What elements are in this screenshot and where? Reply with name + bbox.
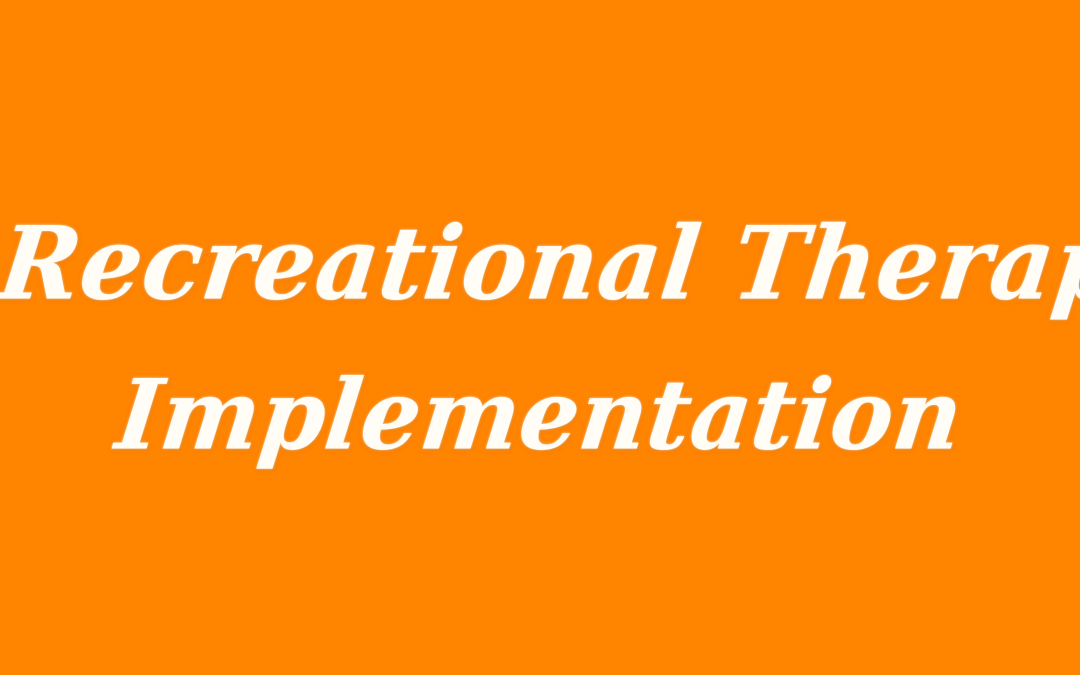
page-title: Recreational Therapy Implementation [0, 215, 1080, 461]
title-card: Recreational Therapy Implementation [0, 0, 1080, 675]
title-line-1: Recreational Therapy [0, 213, 1080, 314]
title-line-2: Implementation [0, 366, 1080, 463]
